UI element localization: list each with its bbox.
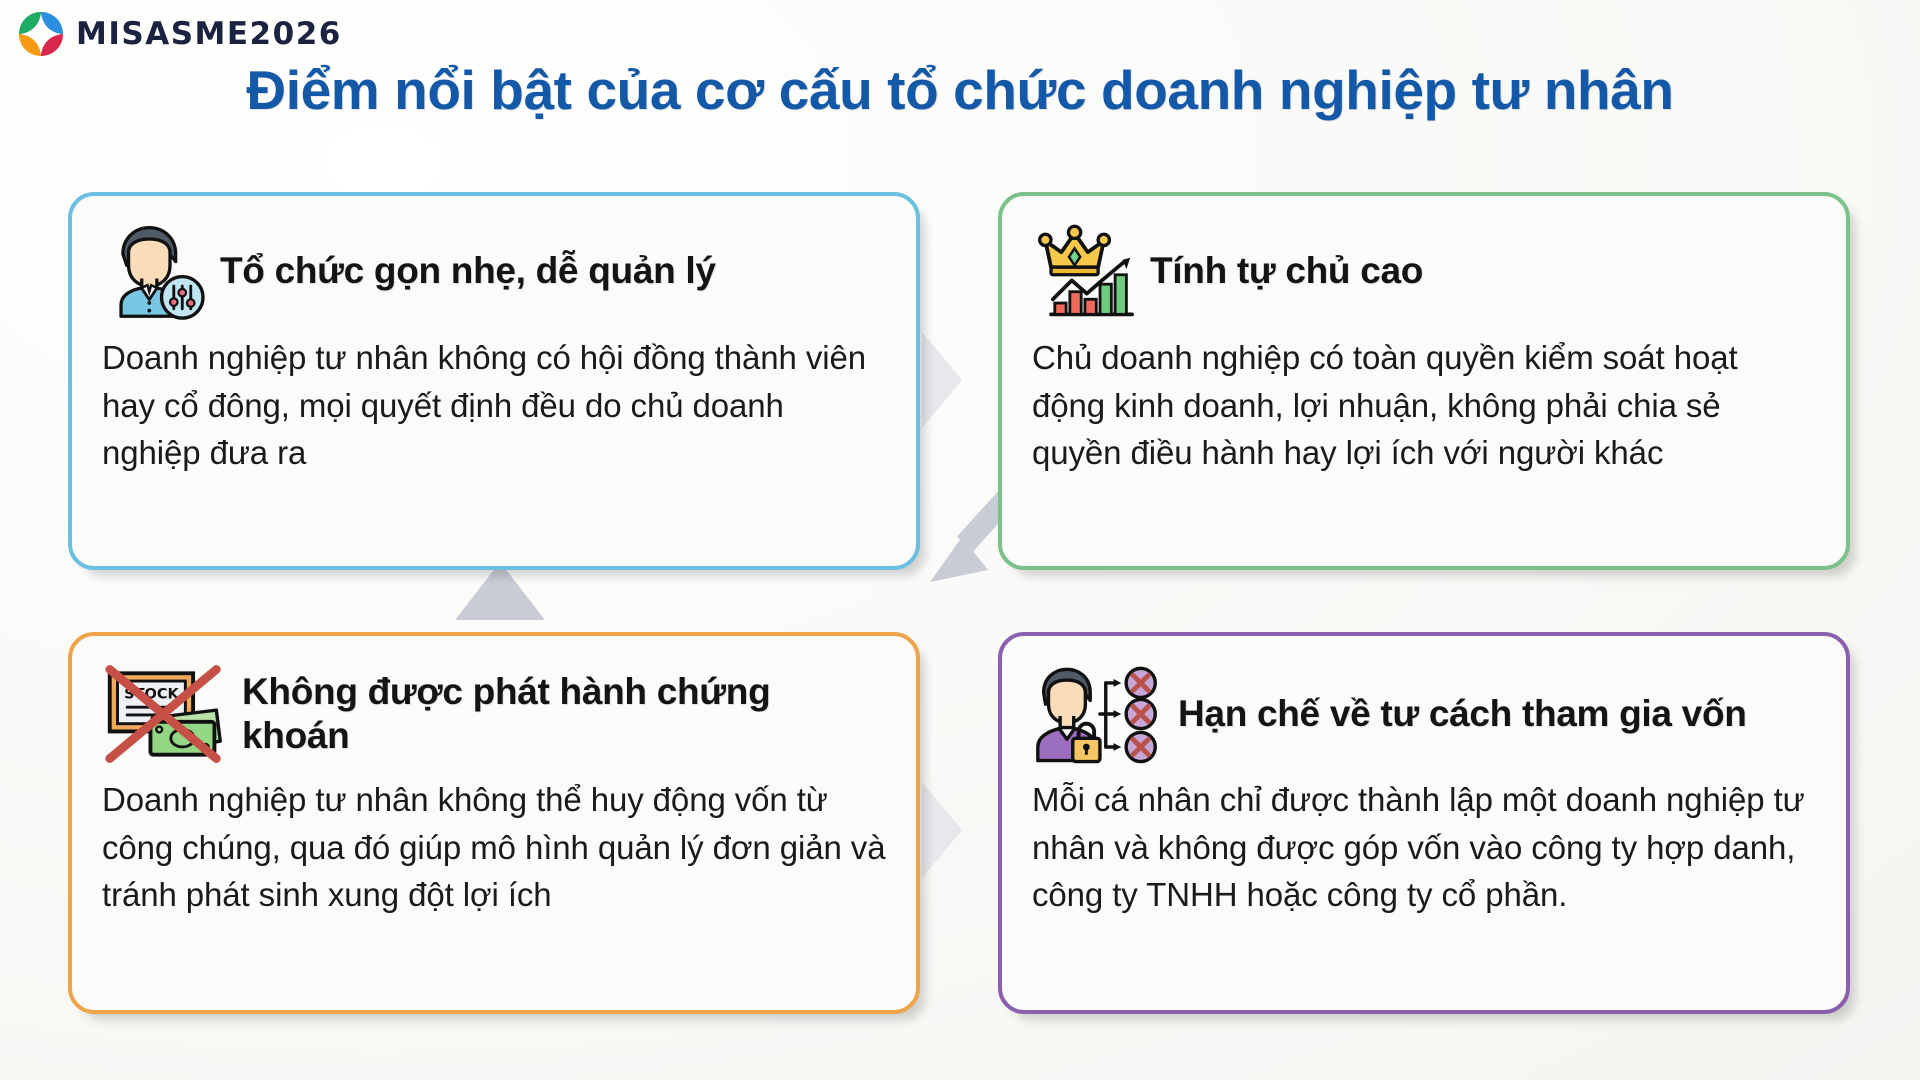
card-header: Hạn chế về tư cách tham gia vốn [1032, 662, 1816, 766]
cards-grid: Tổ chức gọn nhẹ, dễ quản lý Doanh nghiệp… [0, 192, 1920, 1052]
card-khong-duoc-phat-hanh-chung-khoan[interactable]: STOCK Khôn [68, 632, 920, 1014]
card-to-chuc-gon-nhe[interactable]: Tổ chức gọn nhẹ, dễ quản lý Doanh nghiệp… [68, 192, 920, 570]
person-locked-blocked-icon [1032, 662, 1164, 766]
no-stock-certificate-icon: STOCK [102, 662, 228, 766]
card-header: STOCK Khôn [102, 662, 886, 766]
card-title: Tính tự chủ cao [1150, 249, 1423, 293]
brand-name: MISASME2026 [76, 16, 342, 52]
card-title: Tổ chức gọn nhẹ, dễ quản lý [220, 249, 716, 293]
page-title: Điểm nổi bật của cơ cấu tổ chức doanh ng… [0, 58, 1920, 122]
brand-header: MISASME2026 [18, 8, 342, 60]
notch-card1 [922, 332, 962, 428]
card-body: Mỗi cá nhân chỉ được thành lập một doanh… [1032, 776, 1816, 919]
card-header: Tổ chức gọn nhẹ, dễ quản lý [102, 222, 886, 320]
arrow-up-icon [455, 562, 545, 620]
crown-growth-chart-icon [1032, 222, 1136, 320]
card-body: Doanh nghiệp tư nhân không có hội đồng t… [102, 334, 886, 477]
infographic-page: MISASME2026 Điểm nổi bật của cơ cấu tổ c… [0, 0, 1920, 1080]
card-header: Tính tự chủ cao [1032, 222, 1816, 320]
card-body: Chủ doanh nghiệp có toàn quyền kiểm soát… [1032, 334, 1816, 477]
card-title: Hạn chế về tư cách tham gia vốn [1178, 692, 1747, 736]
card-title: Không được phát hành chứng khoán [242, 670, 886, 757]
notch-card3 [922, 782, 962, 878]
card-body: Doanh nghiệp tư nhân không thể huy động … [102, 776, 886, 919]
card-tinh-tu-chu-cao[interactable]: Tính tự chủ cao Chủ doanh nghiệp có toàn… [998, 192, 1850, 570]
misa-logo-icon [18, 11, 64, 57]
card-han-che-ve-tu-cach-tham-gia-von[interactable]: Hạn chế về tư cách tham gia vốn Mỗi cá n… [998, 632, 1850, 1014]
person-settings-icon [102, 222, 206, 320]
